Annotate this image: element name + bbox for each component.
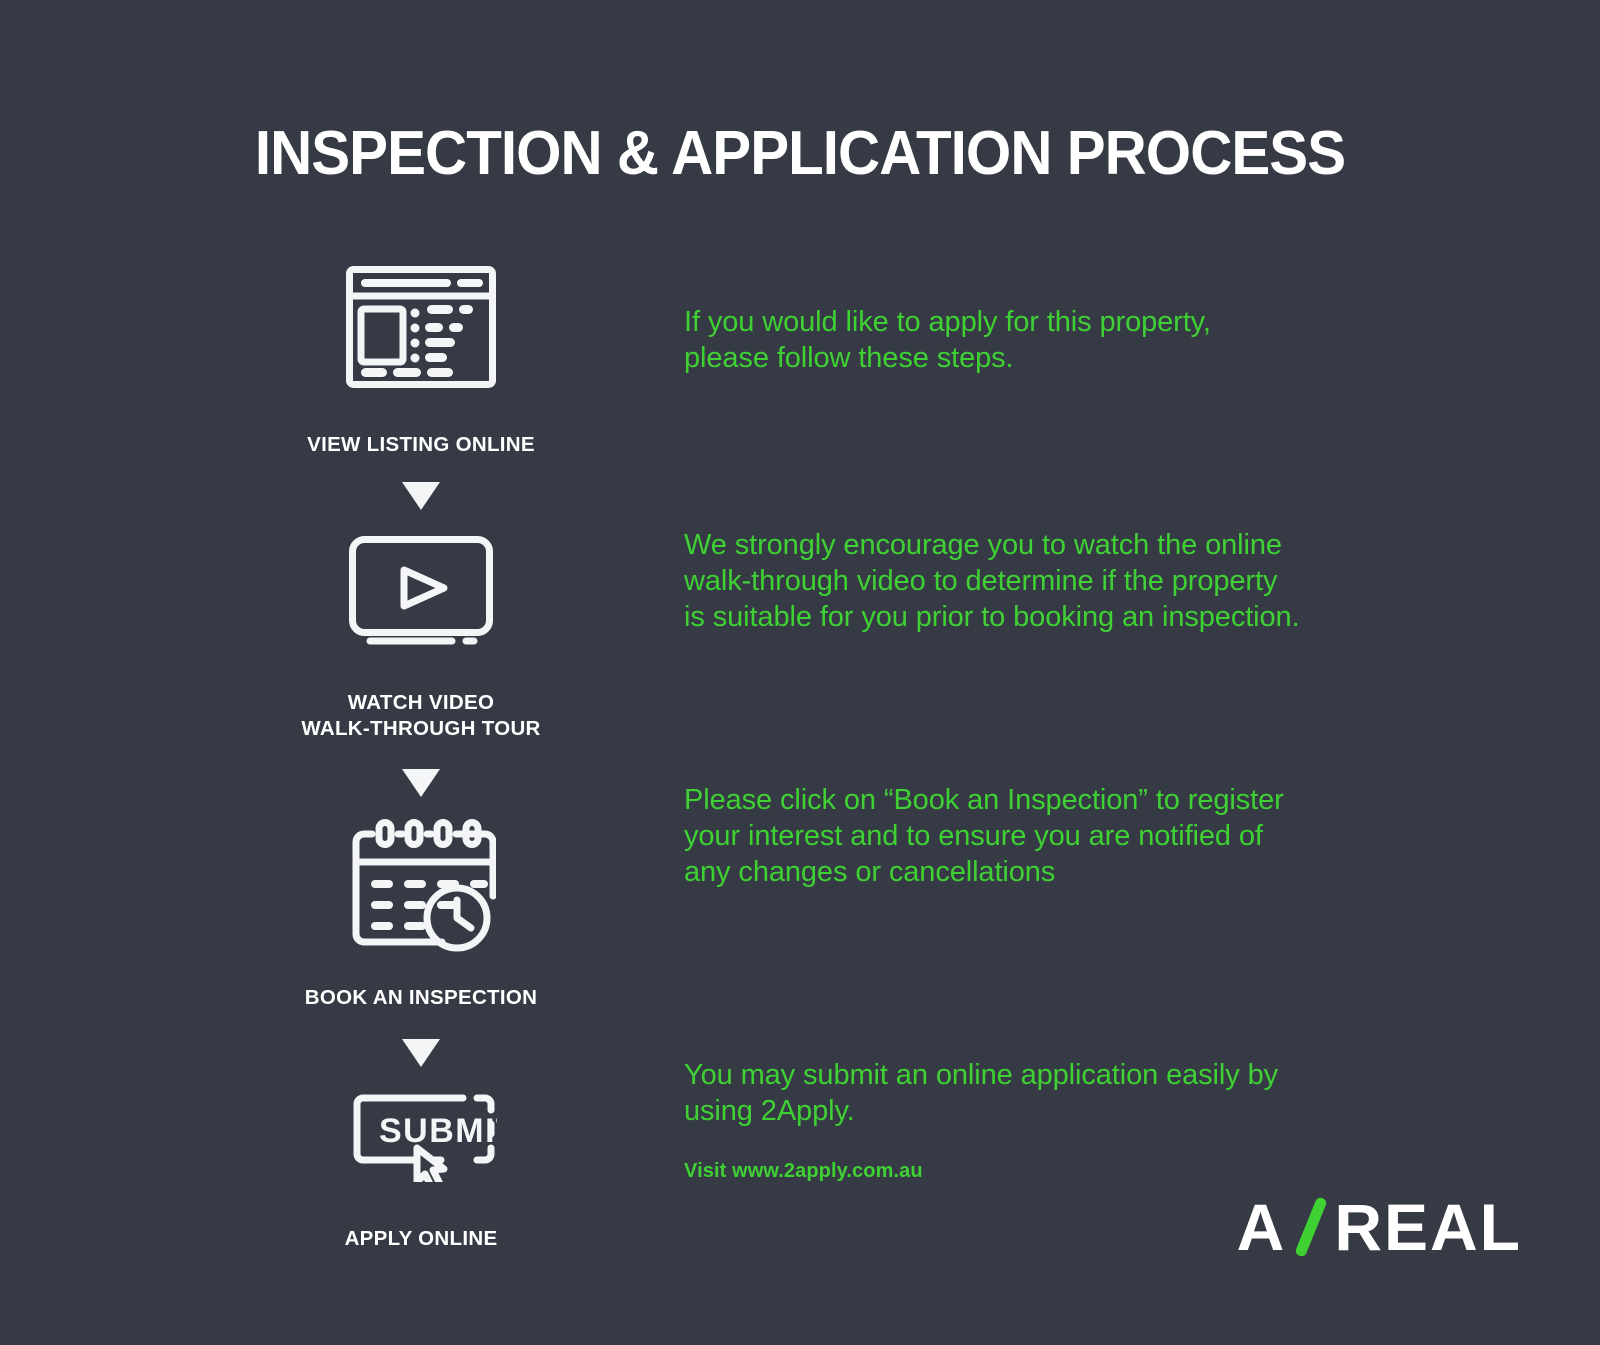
browser-listing-icon [345,262,497,392]
step-label: BOOK AN INSPECTION [305,985,537,1011]
submit-icon-label: SUBMIT [379,1112,497,1150]
process-flow: VIEW LISTING ONLINE WATCH VIDEO WALK-THR… [265,262,577,1252]
step-label: APPLY ONLINE [345,1226,498,1252]
step-book-inspection: BOOK AN INSPECTION [265,797,577,1067]
submit-button-cursor-icon: SUBMIT [345,1089,497,1184]
step-label: WATCH VIDEO WALK-THROUGH TOUR [301,690,540,742]
copy-view-listing: If you would like to apply for this prop… [684,305,1211,377]
brand-logo: A REAL [1237,1196,1522,1258]
flow-arrow-down-icon [402,482,440,510]
logo-letter-a: A [1237,1194,1287,1260]
step-label: VIEW LISTING ONLINE [307,432,535,458]
logo-slash-icon [1294,1196,1328,1258]
flow-arrow-down-icon [402,1039,440,1067]
calendar-clock-icon [346,817,496,953]
copy-apply-online: You may submit an online application eas… [684,1058,1278,1130]
visit-url-text[interactable]: Visit www.2apply.com.au [684,1160,923,1183]
copy-book-inspection: Please click on “Book an Inspection” to … [684,783,1284,891]
logo-word-real: REAL [1334,1194,1522,1260]
infographic-page: INSPECTION & APPLICATION PROCESS [0,0,1600,1345]
step-view-listing-online: VIEW LISTING ONLINE [265,262,577,510]
step-watch-video: WATCH VIDEO WALK-THROUGH TOUR [265,510,577,796]
page-title: INSPECTION & APPLICATION PROCESS [48,118,1552,189]
video-play-icon [348,532,494,650]
copy-watch-video: We strongly encourage you to watch the o… [684,528,1300,636]
step-apply-online: SUBMIT APPLY ONLINE [265,1067,577,1252]
flow-arrow-down-icon [402,769,440,797]
